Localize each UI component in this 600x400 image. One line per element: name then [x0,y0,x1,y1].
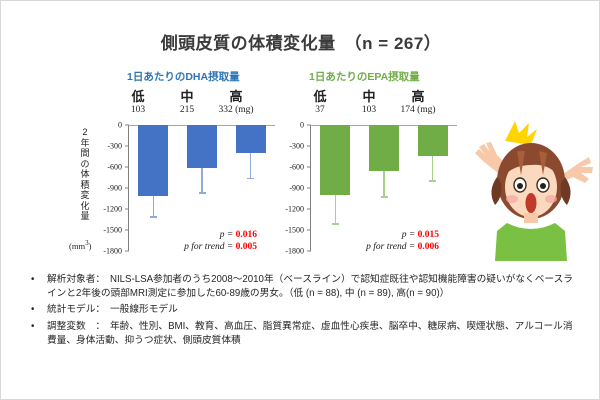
left-pupil [517,183,523,189]
dha-dose-mid: 中 215 [160,89,214,116]
right-cheek [545,195,557,203]
dha-tick-mark [125,125,129,126]
dha-tick-mark [125,188,129,189]
epa-trend-label: p for trend = [366,242,417,252]
epa-error-bar-低 [335,195,337,223]
dha-tick-label: -300 [107,142,122,151]
left-cheek [506,195,518,203]
dha-dose-high: 高 332 (mg) [209,89,263,116]
epa-tick-label: 0 [300,121,304,130]
dha-tick-label: -900 [107,184,122,193]
epa-bar-低 [320,125,350,195]
dha-tick-label: -1200 [103,205,122,214]
epa-tick-mark [307,230,311,231]
lightning-bolt-icon [505,121,537,145]
epa-tick-label: -300 [289,142,304,151]
epa-error-cap-低 [332,223,339,225]
dha-tick-mark [125,230,129,231]
epa-bar-高 [418,125,448,156]
epa-dose-mid: 中 103 [342,89,396,116]
bullet-marker: • [31,303,34,317]
right-pupil [540,183,546,189]
epa-error-cap-高 [429,180,436,182]
list-item: • 解析対象者： NILS-LSA参加者のうち2008〜2010年（ベースライン… [25,273,581,301]
dha-group-header: 1日あたりのDHA摂取量 [127,69,240,84]
dha-error-cap-中 [199,192,206,194]
dha-bar-低 [138,125,168,196]
epa-trend-value: 0.006 [418,242,439,252]
epa-y-ticks: 0-300-600-900-1200-1500-1800 [277,125,307,251]
dha-bar-高 [236,125,266,153]
epa-dose-high: 高 174 (mg) [391,89,445,116]
bullet-marker: • [31,320,34,334]
epa-error-bar-高 [432,156,434,181]
dha-tick-mark [125,209,129,210]
epa-bar-中 [369,125,399,171]
epa-p-label: p = [402,230,418,240]
dha-error-cap-高 [247,178,254,180]
dha-tick-label: 0 [118,121,122,130]
shirt [495,223,567,261]
epa-error-cap-中 [381,196,388,198]
epa-tick-label: -600 [289,163,304,172]
bullet-marker: • [31,273,34,287]
dha-error-cap-低 [150,216,157,218]
dha-p-value: 0.016 [236,230,257,240]
list-item: • 統計モデル： 一般線形モデル [25,303,581,317]
surprised-woman-illustration [469,119,595,261]
dha-bar-中 [187,125,217,168]
mouth [526,193,537,213]
dha-tick-mark [125,167,129,168]
dha-tick-label: -1500 [103,226,122,235]
dha-trend-value: 0.005 [236,242,257,252]
epa-tick-mark [307,188,311,189]
dha-tick-mark [125,251,129,252]
note-covariates: 調整変数 ： 年齢、性別、BMI、教育、高血圧、脂質異常症、虚血性心疾患、脳卒中… [47,320,581,348]
epa-error-bar-中 [383,171,385,196]
epa-tick-mark [307,167,311,168]
epa-tick-mark [307,251,311,252]
dha-tick-label: -1800 [103,247,122,256]
dha-dose-low: 低 103 [111,89,165,116]
epa-tick-label: -1500 [285,226,304,235]
epa-pvalue-annotation: p = 0.015 p for trend = 0.006 [315,229,439,253]
dha-p-label: p = [220,230,236,240]
list-item: • 調整変数 ： 年齢、性別、BMI、教育、高血圧、脂質異常症、虚血性心疾患、脳… [25,320,581,348]
epa-p-value: 0.015 [418,230,439,240]
dha-error-bar-低 [153,196,155,216]
dha-error-bar-高 [250,153,252,178]
dha-pvalue-annotation: p = 0.016 p for trend = 0.005 [133,229,257,253]
dha-tick-label: -600 [107,163,122,172]
epa-tick-mark [307,146,311,147]
epa-group-header: 1日あたりのEPA摂取量 [309,69,420,84]
note-statistical-model: 統計モデル： 一般線形モデル [47,303,581,317]
dha-trend-label: p for trend = [184,242,235,252]
epa-dose-low: 低 37 [293,89,347,116]
dha-tick-mark [125,146,129,147]
neck [524,213,538,223]
epa-tick-label: -1800 [285,247,304,256]
epa-tick-label: -900 [289,184,304,193]
epa-tick-mark [307,125,311,126]
dha-error-bar-中 [201,168,203,193]
epa-tick-label: -1200 [285,205,304,214]
notes-list: • 解析対象者： NILS-LSA参加者のうち2008〜2010年（ベースライン… [25,273,581,350]
epa-tick-mark [307,209,311,210]
dha-y-ticks: 0-300-600-900-1200-1500-1800 [95,125,125,251]
slide-canvas: 側頭皮質の体積変化量 （n = 267） 2年間の体積変化量 (mm3) 1日あ… [0,0,600,400]
chart-area: 1日あたりのDHA摂取量 1日あたりのEPA摂取量 低 103 中 215 高 … [73,69,483,259]
note-subjects: 解析対象者： NILS-LSA参加者のうち2008〜2010年（ベースライン）で… [47,273,581,301]
page-title: 側頭皮質の体積変化量 （n = 267） [1,29,600,54]
